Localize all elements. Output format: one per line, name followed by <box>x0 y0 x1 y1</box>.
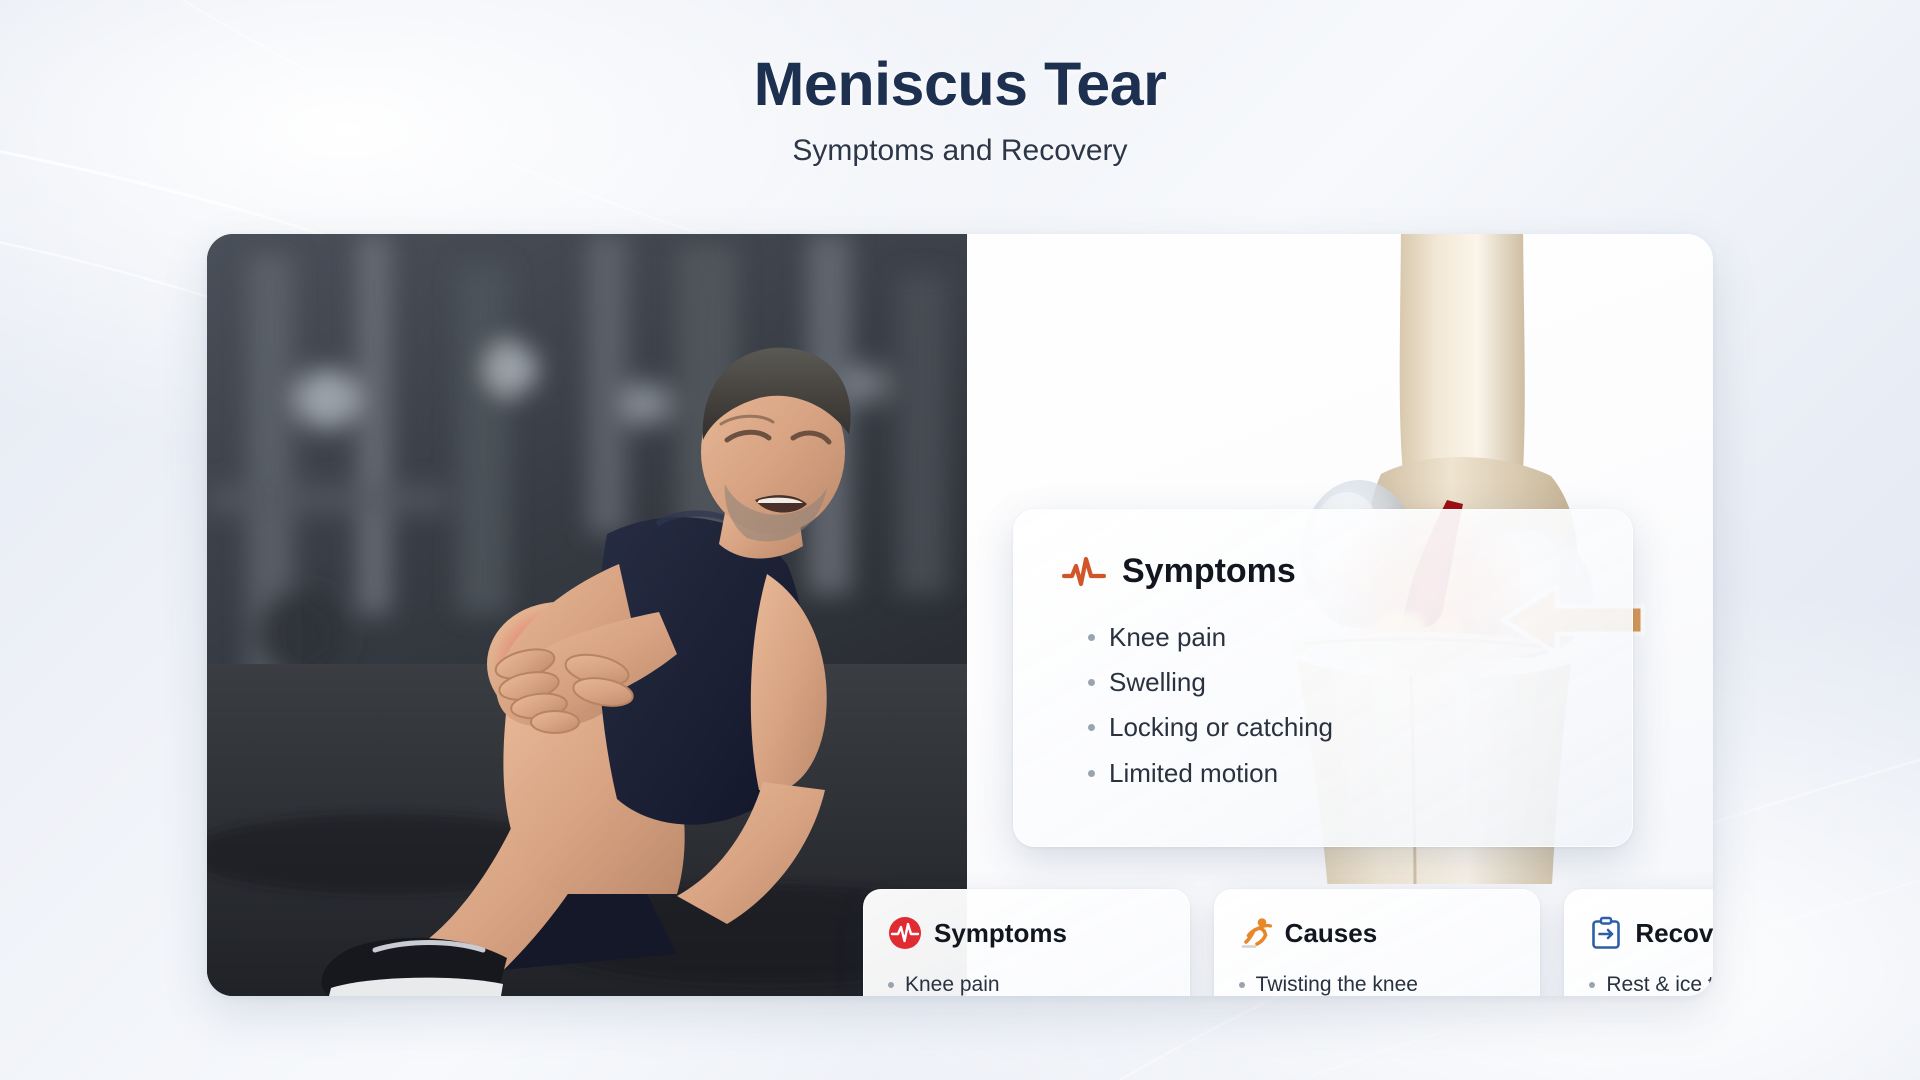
list-item-label: Twisting the knee <box>1256 972 1418 996</box>
card-symptoms: Symptoms Knee pain Swelling Locking or c… <box>863 889 1190 996</box>
list-item-label: Limited motion <box>1109 758 1278 789</box>
bullet-dot <box>1088 724 1095 731</box>
bullet-dot <box>888 982 894 988</box>
list-item-label: Knee pain <box>905 972 1000 996</box>
bullet-dot <box>1088 770 1095 777</box>
list-item: Knee pain <box>888 966 1165 996</box>
card-header: Recovery <box>1589 916 1713 950</box>
infographic-stage: Meniscus Tear Symptoms and Recovery <box>0 0 1920 1080</box>
list-item-label: Knee pain <box>1109 622 1226 653</box>
running-person-icon <box>1239 916 1273 950</box>
card-title: Symptoms <box>934 918 1067 949</box>
symptoms-overview-list: Knee pain Swelling Locking or catching L… <box>1062 615 1584 796</box>
pulse-circle-icon <box>888 916 922 950</box>
list-item-label: Swelling <box>1109 667 1206 698</box>
clipboard-arrow-icon <box>1589 916 1623 950</box>
panel-title: Symptoms <box>1122 552 1296 591</box>
list-item: Rest & ice therapy <box>1589 966 1713 996</box>
list-item: Limited motion <box>1062 751 1584 796</box>
card-header: Symptoms <box>888 916 1165 950</box>
detail-cards-row: Symptoms Knee pain Swelling Locking or c… <box>863 889 1713 996</box>
card-causes: Causes Twisting the knee Sudden pivoting… <box>1214 889 1541 996</box>
card-list: Knee pain Swelling Locking or catching L… <box>888 966 1165 996</box>
list-item: Locking or catching <box>1062 705 1584 750</box>
page-subtitle: Symptoms and Recovery <box>0 134 1920 168</box>
symptoms-overview-panel: Symptoms Knee pain Swelling Locking or c… <box>1013 509 1633 847</box>
list-item: Knee pain <box>1062 615 1584 660</box>
panel-header: Symptoms <box>1062 552 1584 591</box>
bullet-dot <box>1589 982 1595 988</box>
bullet-dot <box>1239 982 1245 988</box>
list-item-label: Rest & ice therapy <box>1606 972 1713 996</box>
man-holding-painful-knee-photo <box>207 234 967 996</box>
card-title: Recovery <box>1635 918 1713 949</box>
bullet-dot <box>1088 634 1095 641</box>
list-item: Twisting the knee <box>1239 966 1516 996</box>
page-title: Meniscus Tear <box>0 52 1920 116</box>
page-header: Meniscus Tear Symptoms and Recovery <box>0 0 1920 168</box>
card-header: Causes <box>1239 916 1516 950</box>
list-item-label: Locking or catching <box>1109 712 1333 743</box>
card-list: Rest & ice therapy Physiotherapy Surgica… <box>1589 966 1713 996</box>
pulse-line-icon <box>1062 556 1106 588</box>
card-list: Twisting the knee Sudden pivoting Aging … <box>1239 966 1516 996</box>
main-content-panel: Symptoms Knee pain Swelling Locking or c… <box>207 234 1713 996</box>
card-recovery: Recovery Rest & ice therapy Physiotherap… <box>1564 889 1713 996</box>
bullet-dot <box>1088 679 1095 686</box>
card-title: Causes <box>1285 918 1378 949</box>
list-item: Swelling <box>1062 660 1584 705</box>
